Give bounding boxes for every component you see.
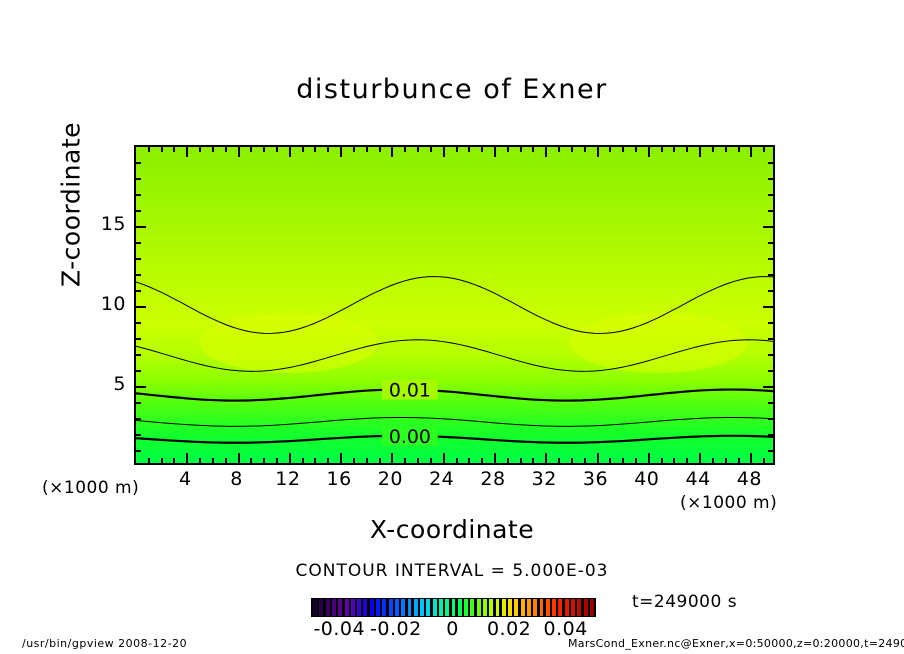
x-axis-tick: [212, 458, 214, 463]
x-axis-tick: [507, 458, 509, 463]
colorbar-segment: [521, 599, 525, 616]
x-axis-unit-left: (×1000 m): [42, 478, 139, 498]
x-axis-tick: [327, 458, 329, 463]
y-axis-tick: [136, 434, 141, 436]
colorbar-segment: [408, 599, 412, 616]
page-title: disturbunce of Exner: [0, 74, 904, 105]
x-axis-tick: [545, 147, 547, 157]
colorbar-gradient: [312, 599, 595, 616]
x-axis-tick: [456, 458, 458, 463]
colorbar-segment: [414, 599, 418, 616]
colorbar-segment: [571, 599, 575, 616]
x-axis-tick: [738, 458, 740, 463]
x-axis-tick: [276, 147, 278, 152]
colorbar-segment: [533, 599, 537, 616]
x-axis-tick: [443, 147, 445, 157]
y-axis-tick: [136, 338, 141, 340]
x-axis-tick: [763, 147, 765, 152]
y-axis-tick: [136, 178, 141, 180]
x-axis-tick: [391, 453, 393, 463]
x-axis-tick: [327, 147, 329, 152]
colorbar-segment: [319, 599, 323, 616]
x-axis-tick: [725, 458, 727, 463]
y-axis-tick: [768, 354, 773, 356]
x-axis-tick: [173, 458, 175, 463]
x-axis-tick: [263, 458, 265, 463]
x-axis-tick: [661, 147, 663, 152]
y-axis-tick: [763, 386, 773, 388]
x-axis-tick: [520, 458, 522, 463]
x-axis-tick: [314, 458, 316, 463]
colorbar-segment: [552, 599, 556, 616]
y-axis-tick: [136, 322, 141, 324]
x-axis-tick: [314, 147, 316, 152]
x-axis-tick: [558, 147, 560, 152]
y-axis-tick: [768, 402, 773, 404]
y-tick-label: 5: [66, 373, 126, 395]
x-axis-tick: [507, 147, 509, 152]
x-axis-tick: [481, 458, 483, 463]
colorbar-segment: [540, 599, 544, 616]
x-axis-tick: [289, 147, 291, 157]
x-axis-tick: [417, 458, 419, 463]
x-axis-tick: [699, 453, 701, 463]
x-axis-tick: [225, 458, 227, 463]
field-maximum-lens: [569, 313, 747, 373]
colorbar-segment: [401, 599, 405, 616]
colorbar-segment: [590, 599, 594, 616]
x-axis-tick: [212, 147, 214, 152]
x-axis-tick: [366, 147, 368, 152]
x-axis-tick: [648, 147, 650, 157]
footer-source: MarsCond_Exner.nc@Exner,x=0:50000,z=0:20…: [568, 637, 904, 650]
colorbar-segment: [477, 599, 481, 616]
x-axis-tick: [584, 147, 586, 152]
colorbar-segment: [445, 599, 449, 616]
colorbar-segment: [433, 599, 437, 616]
x-axis-tick: [545, 453, 547, 463]
x-axis-tick: [161, 458, 163, 463]
colorbar-segment: [458, 599, 462, 616]
x-axis-tick: [558, 458, 560, 463]
x-axis-tick: [571, 458, 573, 463]
colorbar-segment: [345, 599, 349, 616]
x-axis-tick: [622, 147, 624, 152]
x-axis-tick: [738, 147, 740, 152]
y-axis-tick: [768, 290, 773, 292]
y-axis-tick: [768, 434, 773, 436]
colorbar-segment: [389, 599, 393, 616]
x-axis-tick: [430, 458, 432, 463]
y-axis-tick: [136, 370, 141, 372]
x-axis-tick: [609, 458, 611, 463]
x-axis-tick: [584, 458, 586, 463]
x-axis-tick: [391, 147, 393, 157]
x-axis-tick: [699, 147, 701, 157]
colorbar-segment: [420, 599, 424, 616]
field-maximum-lens: [200, 313, 378, 373]
x-axis-tick: [417, 147, 419, 152]
x-axis-tick: [468, 147, 470, 152]
x-axis-tick: [379, 147, 381, 152]
x-axis-tick: [250, 458, 252, 463]
y-axis-tick: [768, 178, 773, 180]
x-tick-label: 48: [719, 468, 779, 490]
plot-area: 0.010.00: [134, 145, 775, 465]
colorbar-segment: [338, 599, 342, 616]
x-axis-tick: [302, 147, 304, 152]
x-axis-tick: [571, 147, 573, 152]
x-axis-tick: [250, 147, 252, 152]
x-axis-tick: [366, 458, 368, 463]
field-background: [136, 147, 773, 463]
contour-interval-label: CONTOUR INTERVAL = 5.000E-03: [0, 561, 904, 581]
timestamp-label: t=249000 s: [632, 592, 737, 612]
y-axis-tick: [136, 418, 141, 420]
x-axis-tick: [379, 458, 381, 463]
x-axis-tick: [353, 147, 355, 152]
x-axis-tick: [199, 147, 201, 152]
x-axis-tick: [520, 147, 522, 152]
y-axis-tick: [768, 338, 773, 340]
x-axis-tick: [276, 458, 278, 463]
x-axis-tick: [238, 147, 240, 157]
x-axis-tick: [238, 453, 240, 463]
colorbar-segment: [326, 599, 330, 616]
colorbar-segment: [376, 599, 380, 616]
colorbar-segment: [363, 599, 367, 616]
x-axis-tick: [302, 458, 304, 463]
x-axis-tick: [404, 458, 406, 463]
colorbar: [311, 598, 596, 617]
y-axis-tick: [136, 226, 146, 228]
contour-label: 0.01: [389, 381, 431, 402]
x-axis-tick: [494, 147, 496, 157]
colorbar-segment: [546, 599, 550, 616]
footer-command: /usr/bin/gpview 2008-12-20: [22, 637, 187, 650]
x-axis-tick: [597, 147, 599, 157]
y-axis-title: Z-coordinate: [57, 90, 86, 320]
x-axis-tick: [673, 458, 675, 463]
x-axis-tick: [712, 147, 714, 152]
x-axis-tick: [353, 458, 355, 463]
colorbar-segment: [426, 599, 430, 616]
x-axis-tick: [225, 147, 227, 152]
y-axis-tick: [136, 450, 141, 452]
y-axis-tick: [136, 242, 141, 244]
colorbar-segment: [464, 599, 468, 616]
x-axis-tick: [148, 147, 150, 152]
y-axis-tick: [136, 354, 141, 356]
x-axis-tick: [161, 147, 163, 152]
colorbar-segment: [452, 599, 456, 616]
x-axis-tick: [532, 458, 534, 463]
colorbar-segment: [565, 599, 569, 616]
colorbar-segment: [514, 599, 518, 616]
x-axis-tick: [661, 458, 663, 463]
y-axis-tick: [768, 274, 773, 276]
x-axis-tick: [289, 453, 291, 463]
colorbar-segment: [502, 599, 506, 616]
x-axis-tick: [712, 458, 714, 463]
contour-field: 0.010.00: [136, 147, 773, 463]
colorbar-segment: [508, 599, 512, 616]
x-axis-tick: [186, 453, 188, 463]
x-axis-tick: [648, 453, 650, 463]
x-axis-tick: [725, 147, 727, 152]
x-axis-tick: [199, 458, 201, 463]
x-axis-tick: [750, 453, 752, 463]
colorbar-segment: [439, 599, 443, 616]
x-axis-tick: [609, 147, 611, 152]
y-axis-tick: [136, 386, 146, 388]
x-axis-tick: [430, 147, 432, 152]
x-axis-tick: [148, 458, 150, 463]
y-axis-tick: [136, 210, 141, 212]
colorbar-segment: [527, 599, 531, 616]
colorbar-segment: [496, 599, 500, 616]
x-axis-tick: [635, 147, 637, 152]
x-axis-tick: [750, 147, 752, 157]
y-axis-tick: [768, 322, 773, 324]
colorbar-segment: [370, 599, 374, 616]
x-axis-tick: [686, 147, 688, 152]
y-axis-tick: [763, 306, 773, 308]
y-axis-tick: [136, 274, 141, 276]
colorbar-segment: [483, 599, 487, 616]
colorbar-segment: [558, 599, 562, 616]
colorbar-segment: [382, 599, 386, 616]
x-axis-title: X-coordinate: [0, 515, 904, 544]
y-axis-tick: [768, 450, 773, 452]
colorbar-segment: [489, 599, 493, 616]
y-axis-tick: [136, 162, 141, 164]
x-axis-tick: [443, 453, 445, 463]
colorbar-segment: [584, 599, 588, 616]
x-axis-tick: [468, 458, 470, 463]
x-axis-tick: [532, 147, 534, 152]
x-axis-unit-right: (×1000 m): [680, 493, 777, 513]
x-axis-tick: [763, 458, 765, 463]
x-axis-tick: [340, 147, 342, 157]
y-axis-tick: [768, 210, 773, 212]
colorbar-segment: [351, 599, 355, 616]
x-axis-tick: [263, 147, 265, 152]
x-axis-tick: [686, 458, 688, 463]
x-axis-tick: [186, 147, 188, 157]
x-axis-tick: [635, 458, 637, 463]
x-axis-tick: [673, 147, 675, 152]
y-axis-tick: [768, 258, 773, 260]
y-axis-tick: [136, 402, 141, 404]
y-axis-tick: [136, 290, 141, 292]
y-axis-tick: [768, 194, 773, 196]
colorbar-segment: [357, 599, 361, 616]
x-axis-tick: [494, 453, 496, 463]
colorbar-segment: [395, 599, 399, 616]
y-axis-tick: [136, 194, 141, 196]
y-axis-tick: [768, 162, 773, 164]
x-axis-tick: [481, 147, 483, 152]
y-axis-tick: [768, 370, 773, 372]
colorbar-segment: [313, 599, 317, 616]
x-axis-tick: [173, 147, 175, 152]
contour-label: 0.00: [389, 427, 431, 448]
y-axis-tick: [136, 306, 146, 308]
colorbar-segment: [332, 599, 336, 616]
y-axis-tick: [768, 418, 773, 420]
x-axis-tick: [622, 458, 624, 463]
x-axis-tick: [340, 453, 342, 463]
y-axis-tick: [763, 226, 773, 228]
y-axis-tick: [136, 258, 141, 260]
x-axis-tick: [456, 147, 458, 152]
colorbar-segment: [577, 599, 581, 616]
colorbar-segment: [470, 599, 474, 616]
y-axis-tick: [768, 242, 773, 244]
x-axis-tick: [597, 453, 599, 463]
x-axis-tick: [404, 147, 406, 152]
